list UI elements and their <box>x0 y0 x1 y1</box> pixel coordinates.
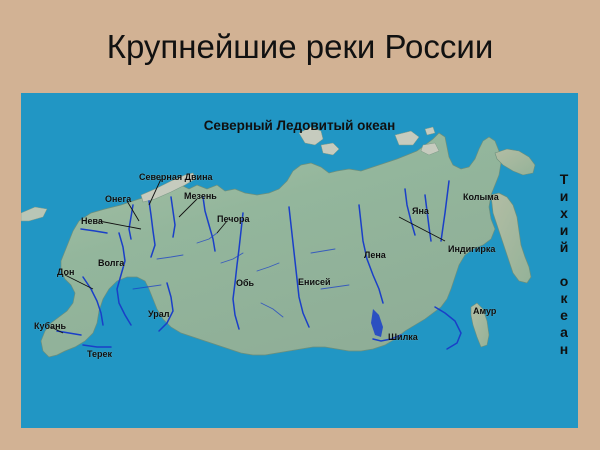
river-label-indigirka: Индигирка <box>448 244 495 254</box>
river-label-ob: Обь <box>236 278 254 288</box>
pacific-ocean-label: Тихий океан <box>556 171 572 321</box>
river-label-onega: Онега <box>105 194 131 204</box>
river-label-yana: Яна <box>412 206 429 216</box>
river-label-lena: Лена <box>364 250 386 260</box>
river-label-terek: Терек <box>87 349 112 359</box>
river-label-ural: Урал <box>148 309 169 319</box>
river-label-shilka: Шилка <box>388 332 418 342</box>
slide-canvas: Крупнейшие реки России <box>0 0 600 450</box>
page-title: Крупнейшие реки России <box>0 28 600 66</box>
river-label-kuban: Кубань <box>34 321 66 331</box>
map-image[interactable]: Северный Ледовитый океан Тихий океан Сев… <box>21 93 578 428</box>
river-label-severnaya-dvina: Северная Двина <box>139 172 213 182</box>
river-label-mezen: Мезень <box>184 191 217 201</box>
river-label-kolyma: Колыма <box>463 192 499 202</box>
arctic-ocean-label: Северный Ледовитый океан <box>21 118 578 133</box>
river-label-don: Дон <box>57 267 74 277</box>
river-label-enisey: Енисей <box>298 277 331 287</box>
river-label-amur: Амур <box>473 306 496 316</box>
river-label-pechora: Печора <box>217 214 249 224</box>
river-label-volga: Волга <box>98 258 124 268</box>
river-label-neva: Нева <box>81 216 103 226</box>
